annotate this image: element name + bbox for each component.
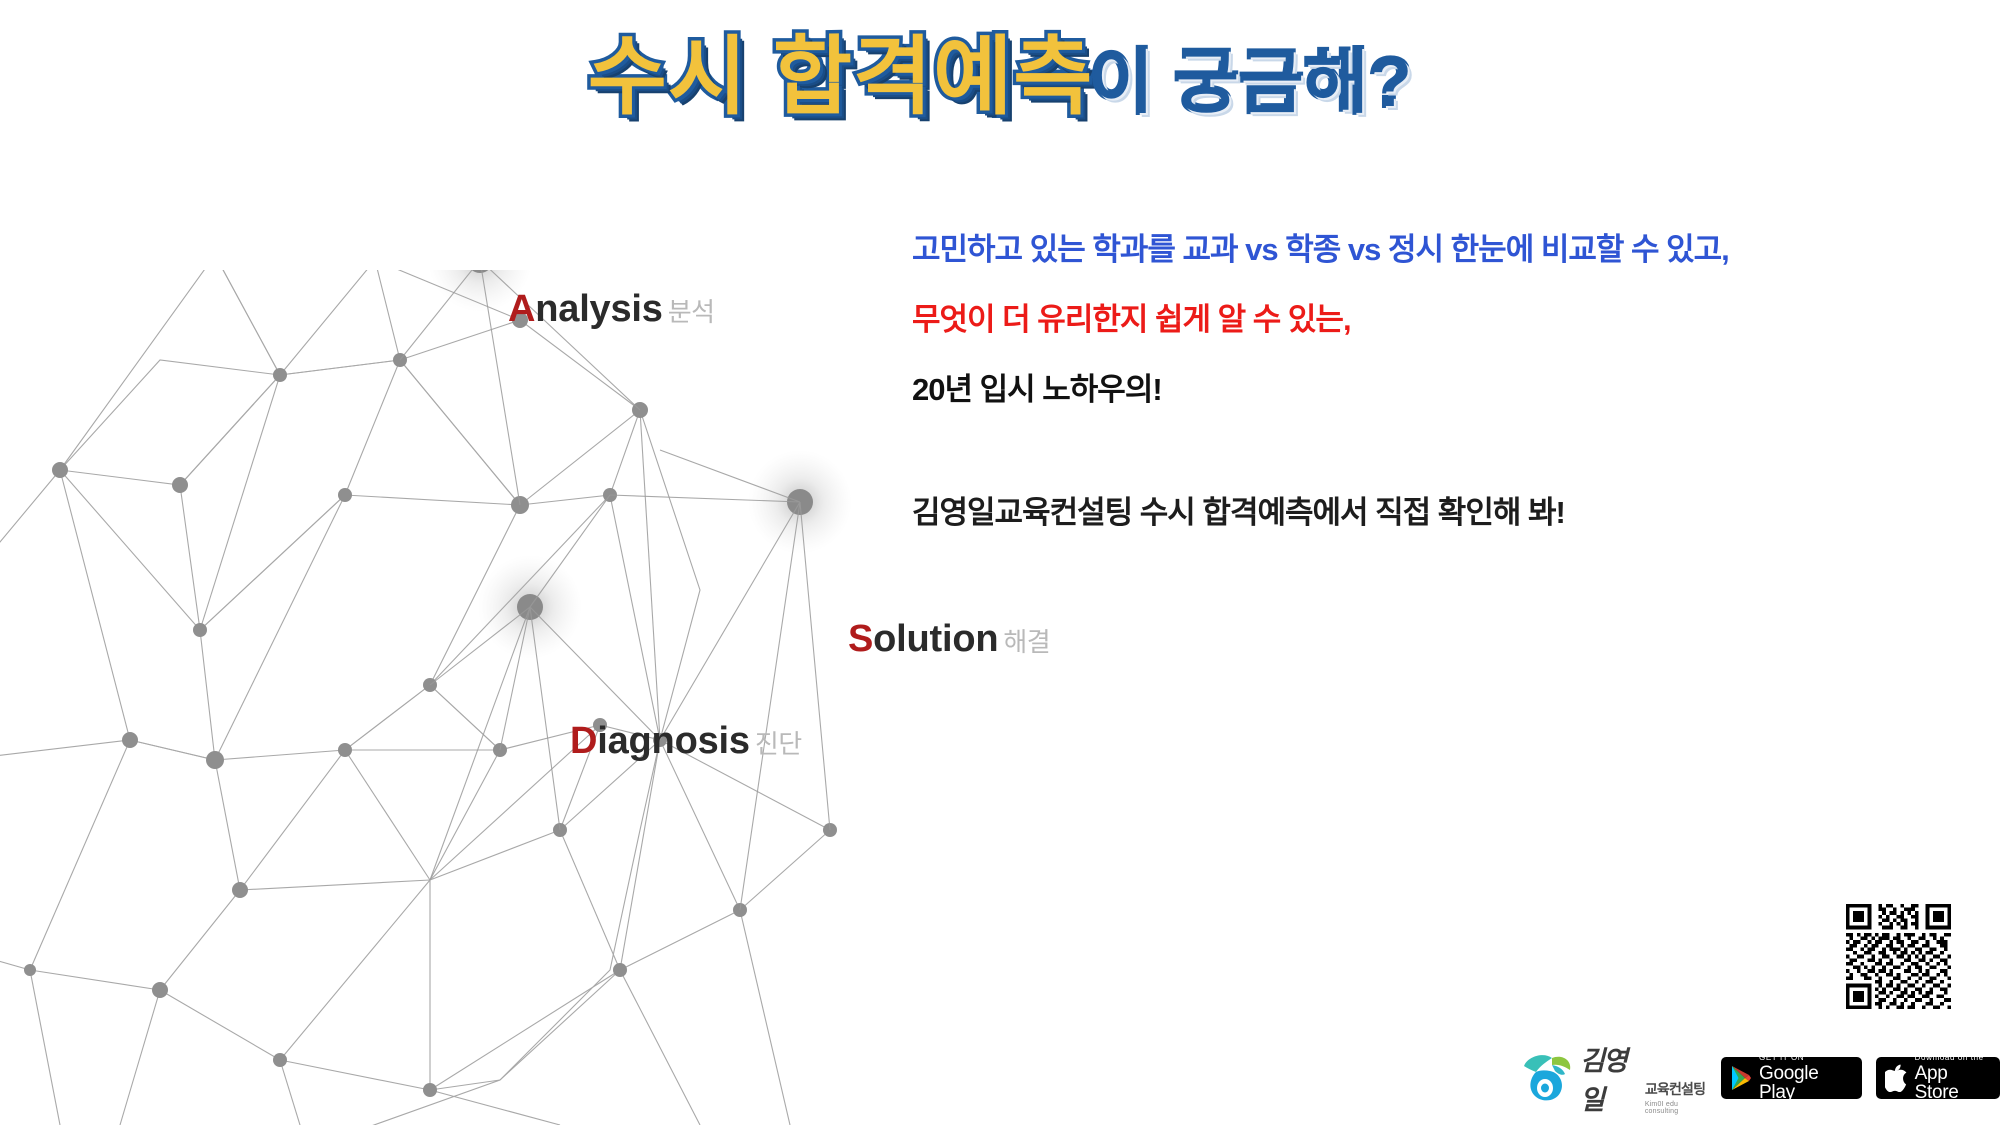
- copy-line-cta: 김영일교육컨설팅 수시 합격예측에서 직접 확인해 봐!: [912, 497, 1922, 528]
- brand-logo: 김영일 교육컨설팅 Kim0I edu consulting: [1518, 1039, 1707, 1117]
- node-label-solution: Solution해결: [848, 620, 1050, 658]
- copy-line-advantage: 무엇이 더 유리한지 쉽게 알 수 있는,: [912, 304, 1922, 335]
- app-store-badge-top: Download on the: [1915, 1054, 1989, 1062]
- app-store-badge-text: Download on the App Store: [1915, 1054, 1989, 1102]
- node-label-solution-rest: olution: [873, 618, 998, 660]
- node-label-diagnosis-ko: 진단: [755, 729, 802, 759]
- node-label-solution-ko: 해결: [1003, 627, 1050, 657]
- google-play-badge-main: Google Play: [1759, 1064, 1851, 1102]
- node-label-analysis-en: Analysis: [508, 288, 663, 330]
- page-title-highlight: 수시 합격예측: [588, 29, 1094, 125]
- node-label-analysis-rest: nalysis: [535, 288, 662, 330]
- brand-name-script: 김영일: [1580, 1039, 1642, 1117]
- node-label-analysis-ko: 분석: [668, 297, 715, 327]
- poster-canvas: Analysis분석 Solution해결 Diagnosis진단 수시 합격예…: [0, 0, 2000, 1125]
- brand-mark-icon: [1518, 1052, 1576, 1104]
- node-label-diagnosis-en: Diagnosis: [570, 720, 750, 762]
- node-label-solution-en: Solution: [848, 618, 998, 660]
- marketing-copy-block: 고민하고 있는 학과를 교과 vs 학종 vs 정시 한눈에 비교할 수 있고,…: [912, 234, 1922, 528]
- brand-wordmark: 김영일 교육컨설팅 Kim0I edu consulting: [1580, 1039, 1707, 1117]
- app-store-badge-main: App Store: [1915, 1064, 1989, 1102]
- node-label-solution-initial: S: [848, 618, 873, 660]
- node-label-diagnosis-rest: iagnosis: [597, 720, 750, 762]
- page-title: 수시 합격예측이 궁금해?: [0, 34, 2000, 120]
- copy-line-experience: 20년 입시 노하우의!: [912, 374, 1922, 405]
- page-title-tail: 이 궁금해?: [1089, 43, 1412, 121]
- node-label-diagnosis: Diagnosis진단: [570, 722, 802, 760]
- google-play-icon: [1730, 1065, 1752, 1091]
- mesh-edges: [0, 270, 830, 1125]
- node-label-analysis: Analysis분석: [508, 290, 715, 328]
- footer-bar: 김영일 교육컨설팅 Kim0I edu consulting GET IT ON…: [1518, 1048, 2000, 1108]
- apple-icon: [1885, 1064, 1908, 1092]
- node-label-analysis-initial: A: [508, 288, 535, 330]
- network-mesh-graphic: [0, 270, 880, 1125]
- google-play-badge-top: GET IT ON: [1759, 1054, 1851, 1062]
- app-store-badge[interactable]: Download on the App Store: [1876, 1057, 2000, 1099]
- copy-line-compare: 고민하고 있는 학과를 교과 vs 학종 vs 정시 한눈에 비교할 수 있고,: [912, 234, 1922, 265]
- node-label-diagnosis-initial: D: [570, 720, 597, 762]
- qr-code[interactable]: [1846, 904, 1951, 1009]
- brand-sub-english: Kim0I edu consulting: [1645, 1101, 1707, 1115]
- brand-sub-korean: 교육컨설팅: [1645, 1079, 1707, 1099]
- google-play-badge-text: GET IT ON Google Play: [1759, 1054, 1851, 1102]
- google-play-badge[interactable]: GET IT ON Google Play: [1721, 1057, 1862, 1099]
